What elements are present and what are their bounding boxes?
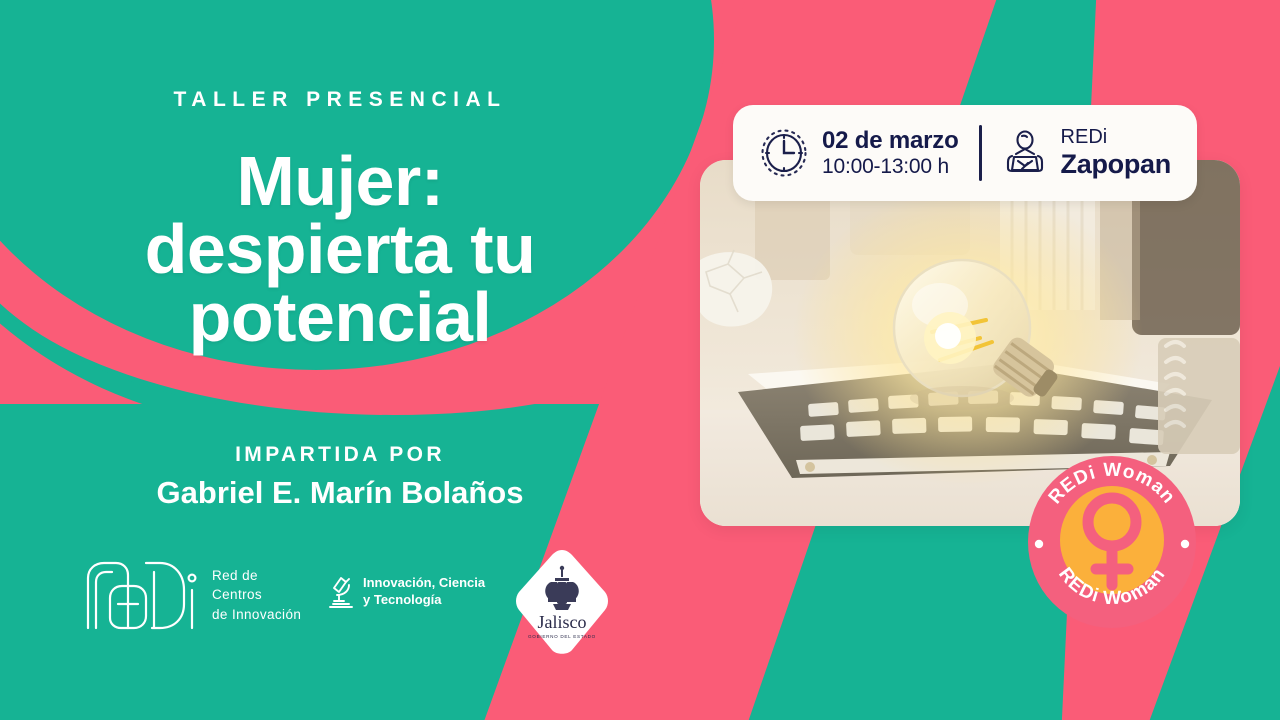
badge-venue-segment: REDi Zapopan	[1002, 126, 1171, 180]
redi-text-line-1: Red de	[212, 566, 301, 586]
redi-text-line-2: Centros	[212, 585, 301, 605]
redi-wordmark-outline-icon	[82, 556, 202, 634]
ict-text-line-2: y Tecnología	[363, 592, 485, 609]
venue-brand: REDi	[1061, 126, 1171, 149]
ict-logo-text: Innovación, Ciencia y Tecnología	[363, 575, 485, 609]
logo-jalisco: Jalisco GOBIERNO DEL ESTADO	[512, 548, 612, 660]
redi-woman-stamp: REDi Woman REDi Woman	[1022, 452, 1202, 632]
jalisco-subtitle: GOBIERNO DEL ESTADO	[528, 634, 596, 639]
logo-redi: Red de Centros de Innovación	[82, 556, 301, 634]
event-date: 02 de marzo	[822, 127, 959, 155]
microscope-icon	[328, 574, 354, 610]
redi-logo-text: Red de Centros de Innovación	[212, 566, 301, 625]
logo-row: Red de Centros de Innovación Innovación,…	[0, 548, 680, 663]
redi-text-line-3: de Innovación	[212, 605, 301, 625]
badge-datetime-segment: 02 de marzo 10:00-13:00 h	[759, 127, 959, 180]
clock-icon	[759, 128, 809, 178]
event-info-badge: 02 de marzo 10:00-13:00 h REDi Zapopan	[733, 105, 1197, 201]
event-time: 10:00-13:00 h	[822, 154, 959, 179]
badge-divider	[979, 125, 982, 181]
venue-city: Zapopan	[1061, 149, 1171, 180]
person-map-icon	[1002, 130, 1048, 176]
logo-innovacion-ciencia-tecnologia: Innovación, Ciencia y Tecnología	[328, 574, 485, 610]
ict-text-line-1: Innovación, Ciencia	[363, 575, 485, 592]
jalisco-name: Jalisco	[538, 612, 587, 632]
